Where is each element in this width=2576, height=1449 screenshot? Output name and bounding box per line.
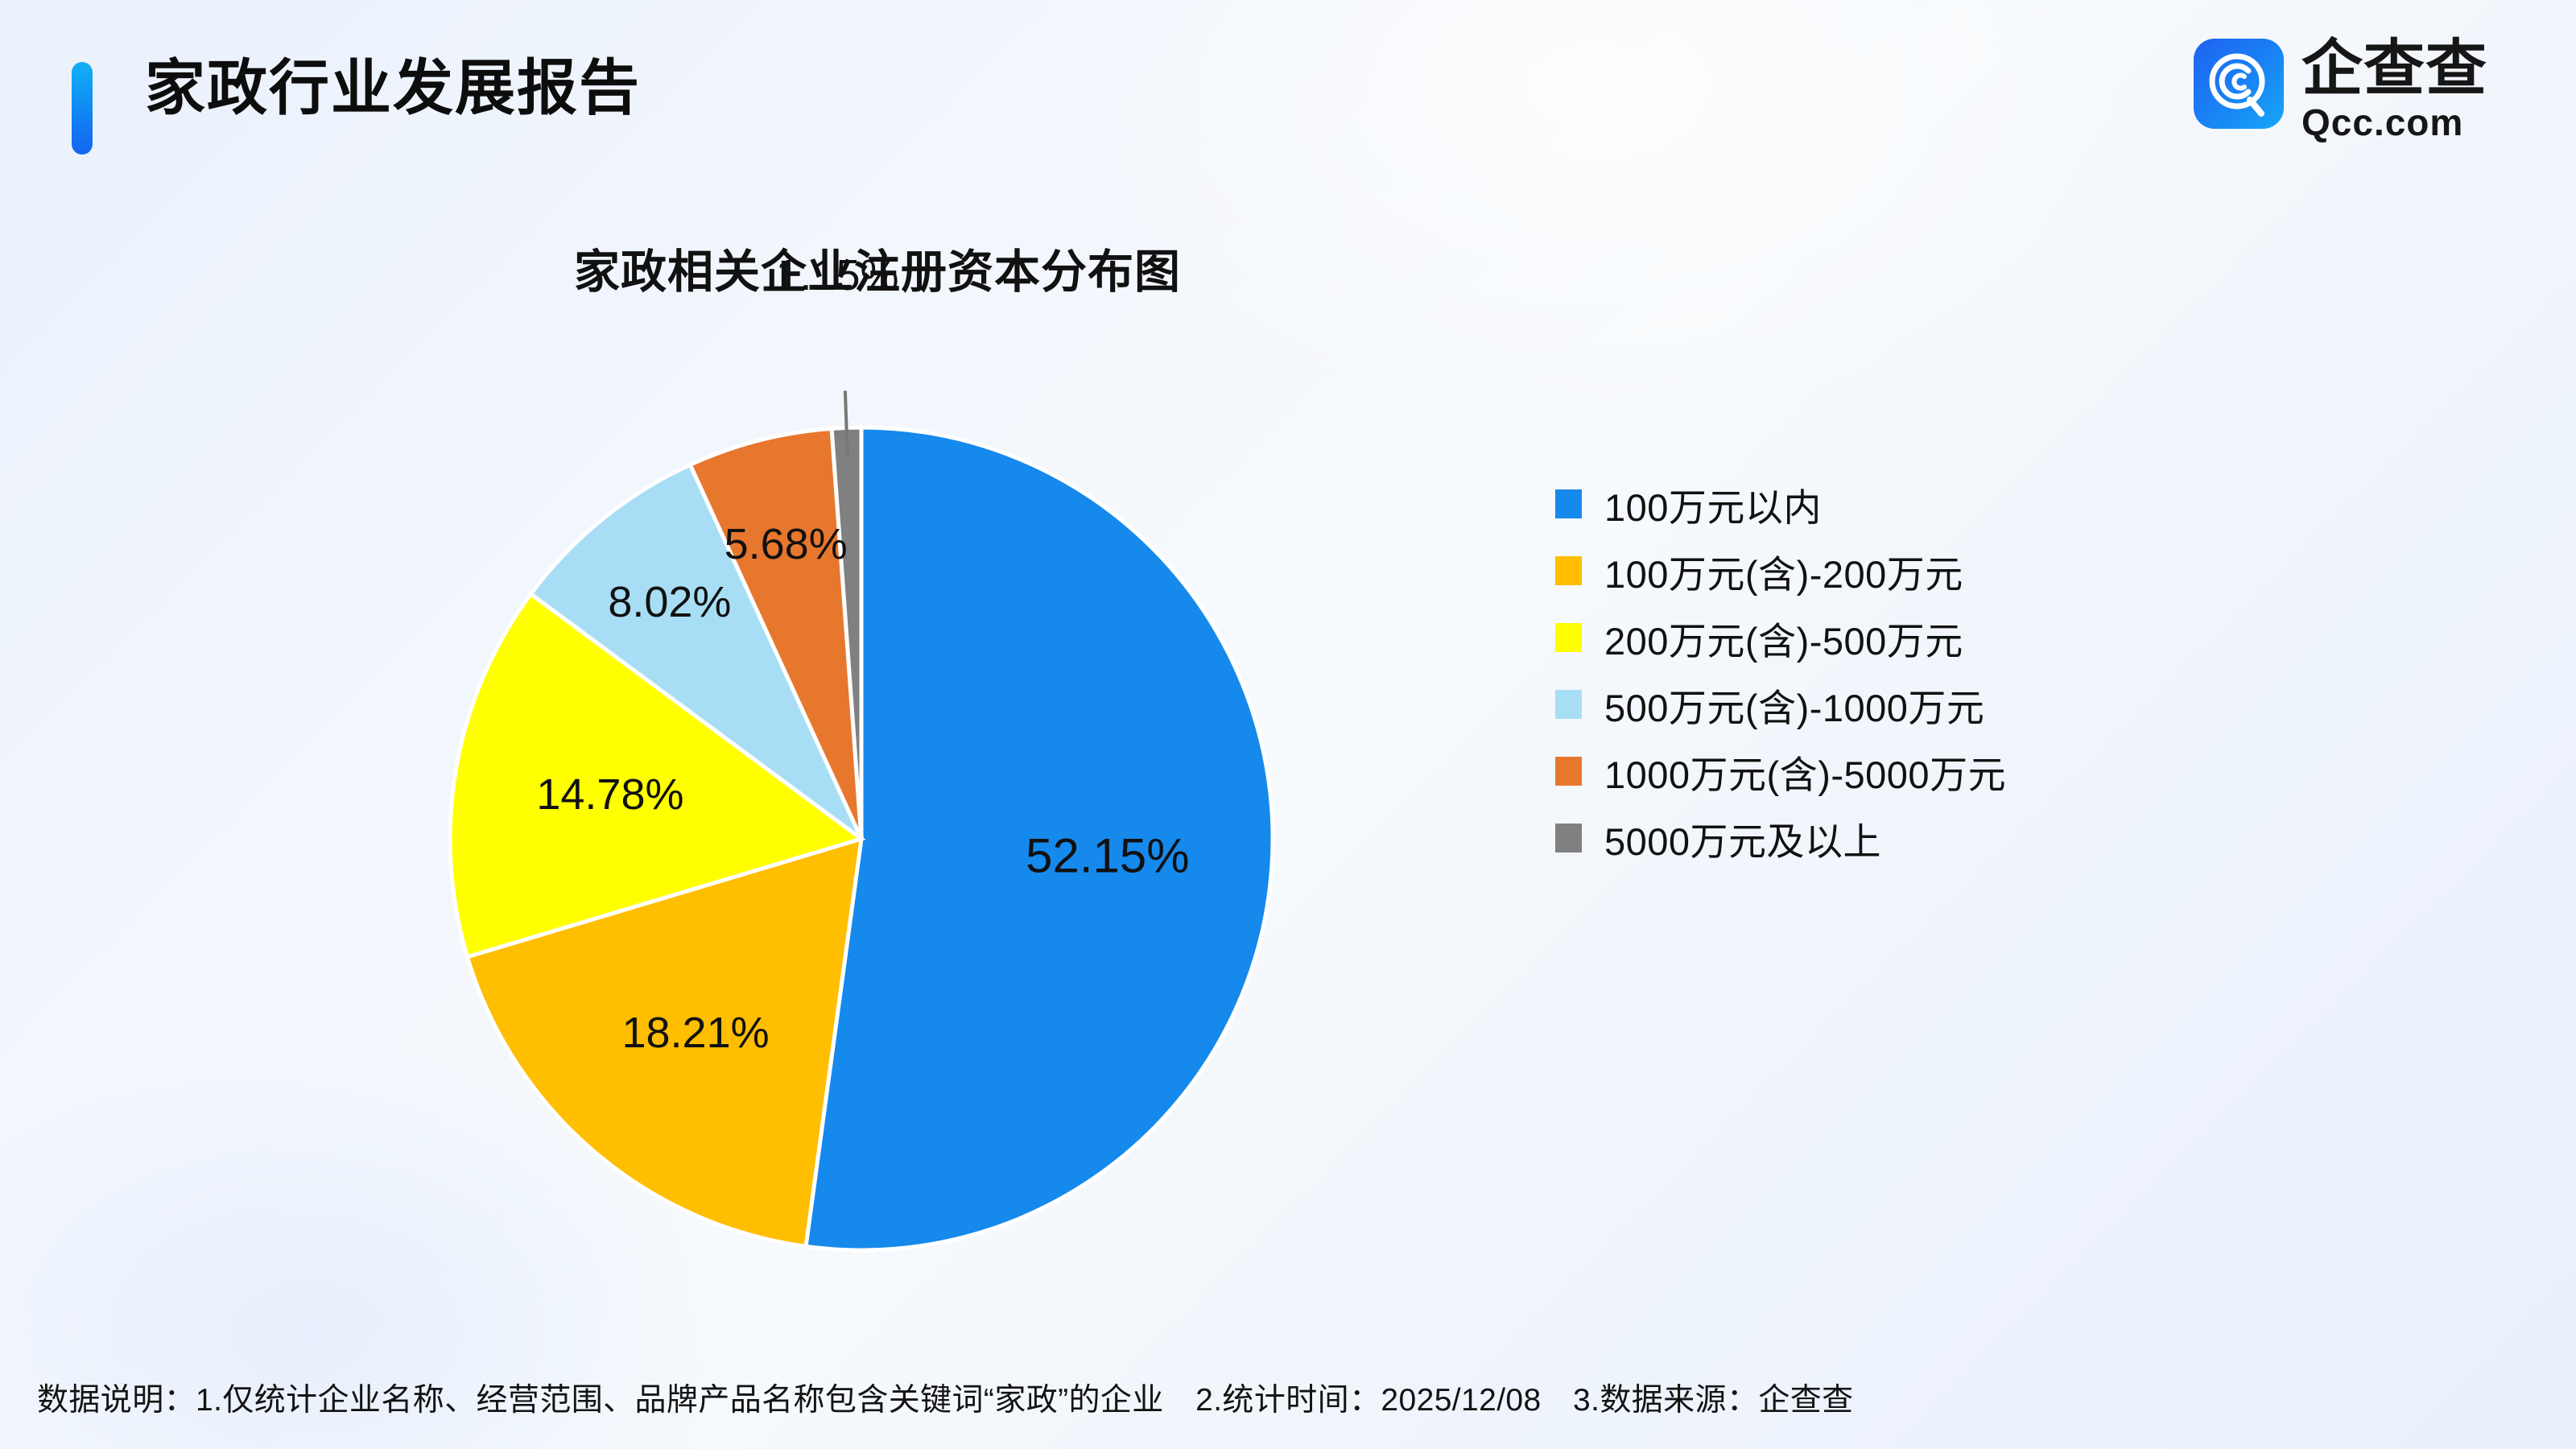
pie-slice-label: 14.78% — [536, 770, 683, 819]
legend-swatch-icon — [1555, 489, 1582, 518]
legend-item[interactable]: 200万元(含)-500万元 — [1555, 605, 2006, 671]
pie-slice-label: 5.68% — [724, 519, 848, 569]
chart-legend[interactable]: 100万元以内100万元(含)-200万元200万元(含)-500万元500万元… — [1555, 471, 2006, 871]
legend-item-label: 100万元(含)-200万元 — [1604, 543, 1963, 599]
legend-item-label: 500万元(含)-1000万元 — [1604, 677, 1984, 733]
brand-name-cn: 企查查 — [2301, 40, 2487, 99]
pie-slice-label: 18.21% — [621, 1008, 769, 1058]
title-accent-bar — [72, 62, 93, 155]
pie-slice-label: 8.02% — [608, 577, 731, 627]
legend-item[interactable]: 500万元(含)-1000万元 — [1555, 671, 2006, 737]
page-header: 家政行业发展报告 企查查 Qcc.com — [0, 0, 2576, 169]
pie-slice-label: 52.15% — [1026, 828, 1190, 883]
brand-logo[interactable]: 企查查 Qcc.com — [2194, 39, 2487, 141]
legend-swatch-icon — [1555, 757, 1582, 786]
brand-wordmark: 企查查 Qcc.com — [2301, 39, 2487, 141]
legend-swatch-icon — [1555, 690, 1582, 719]
legend-item-label: 200万元(含)-500万元 — [1604, 610, 1963, 666]
data-note: 数据说明：1.仅统计企业名称、经营范围、品牌产品名称包含关键词“家政”的企业 2… — [37, 1375, 2533, 1420]
qcc-logo-icon — [2194, 39, 2284, 129]
legend-item[interactable]: 5000万元及以上 — [1555, 805, 2006, 871]
legend-swatch-icon — [1555, 623, 1582, 652]
legend-swatch-icon — [1555, 556, 1582, 585]
legend-item-label: 5000万元及以上 — [1604, 811, 1881, 866]
legend-item[interactable]: 100万元(含)-200万元 — [1555, 538, 2006, 604]
background-sheen — [0, 0, 2576, 1449]
legend-item[interactable]: 1000万元(含)-5000万元 — [1555, 738, 2006, 804]
pie-slice-label: 1.15% — [775, 250, 898, 300]
legend-swatch-icon — [1555, 824, 1582, 852]
brand-name-en: Qcc.com — [2301, 104, 2487, 141]
page-title: 家政行业发展报告 — [145, 52, 641, 124]
legend-item-label: 1000万元(含)-5000万元 — [1604, 744, 2006, 799]
legend-item[interactable]: 100万元以内 — [1555, 471, 2006, 537]
legend-item-label: 100万元以内 — [1604, 477, 1822, 532]
